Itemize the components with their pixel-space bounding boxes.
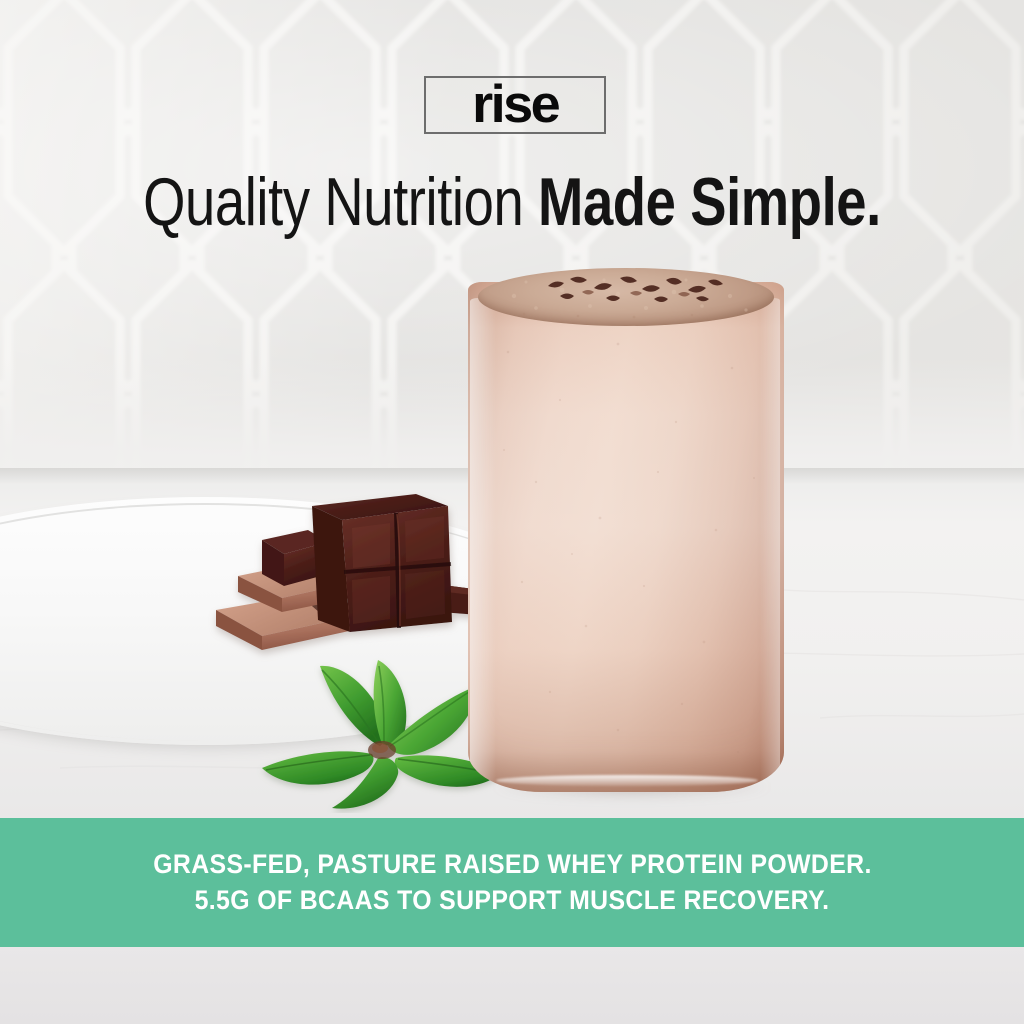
shake-speckle-texture-icon [468, 282, 784, 792]
chocolate-shavings-icon [536, 270, 736, 304]
tagline-banner: GRASS-FED, PASTURE RAISED WHEY PROTEIN P… [0, 818, 1024, 947]
glass-body [468, 282, 784, 792]
chocolate-shake-glass [468, 268, 784, 792]
product-ad-canvas: rise Quality Nutrition Made Simple. GRAS… [0, 0, 1024, 1024]
brand-logo-text: rise [472, 78, 558, 131]
headline-bold-text: Made Simple. [538, 164, 881, 240]
page-title: Quality Nutrition Made Simple. [102, 168, 921, 236]
headline-light-text: Quality Nutrition [143, 164, 538, 240]
shake-foam-top [478, 268, 774, 326]
chocolate-pieces [200, 480, 510, 665]
glass-left-highlight [470, 298, 496, 792]
glass-right-highlight [760, 298, 780, 792]
tagline-line-1: GRASS-FED, PASTURE RAISED WHEY PROTEIN P… [153, 850, 871, 879]
glass-base-reflection [496, 775, 758, 786]
brand-logo[interactable]: rise [424, 76, 606, 134]
tagline-line-2: 5.5G OF BCAAS TO SUPPORT MUSCLE RECOVERY… [195, 886, 830, 915]
bottom-strip [0, 947, 1024, 1024]
